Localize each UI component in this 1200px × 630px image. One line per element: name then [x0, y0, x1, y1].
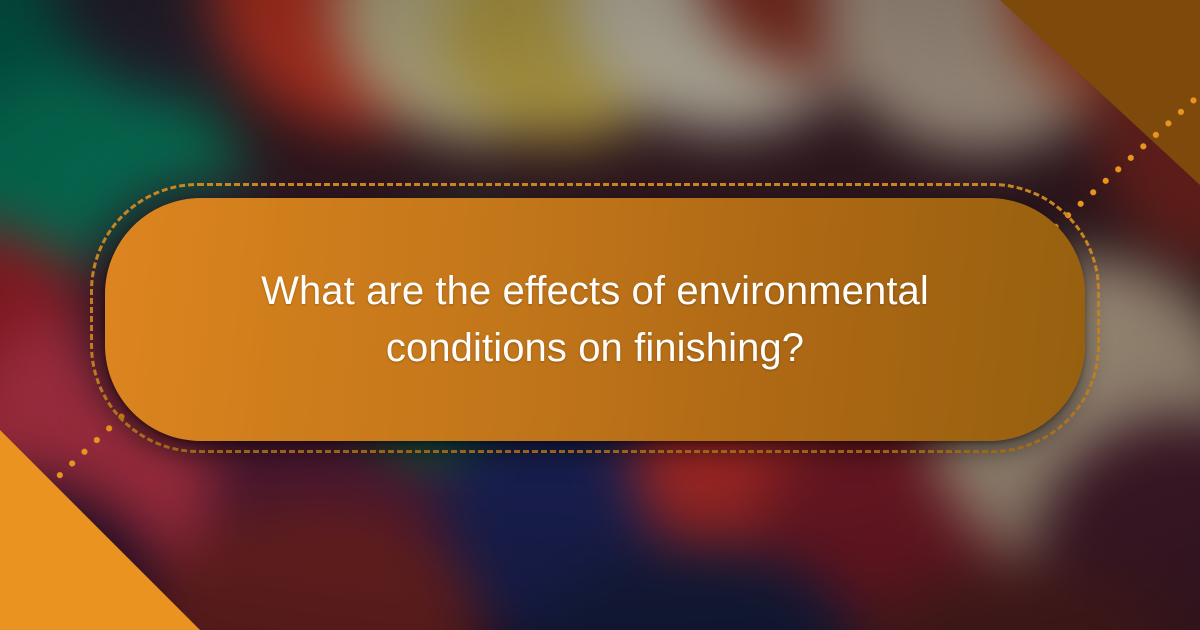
card-title: What are the effects of environmental co… [191, 263, 999, 377]
question-card: What are the effects of environmental co… [105, 198, 1085, 441]
banner-canvas: What are the effects of environmental co… [0, 0, 1200, 630]
